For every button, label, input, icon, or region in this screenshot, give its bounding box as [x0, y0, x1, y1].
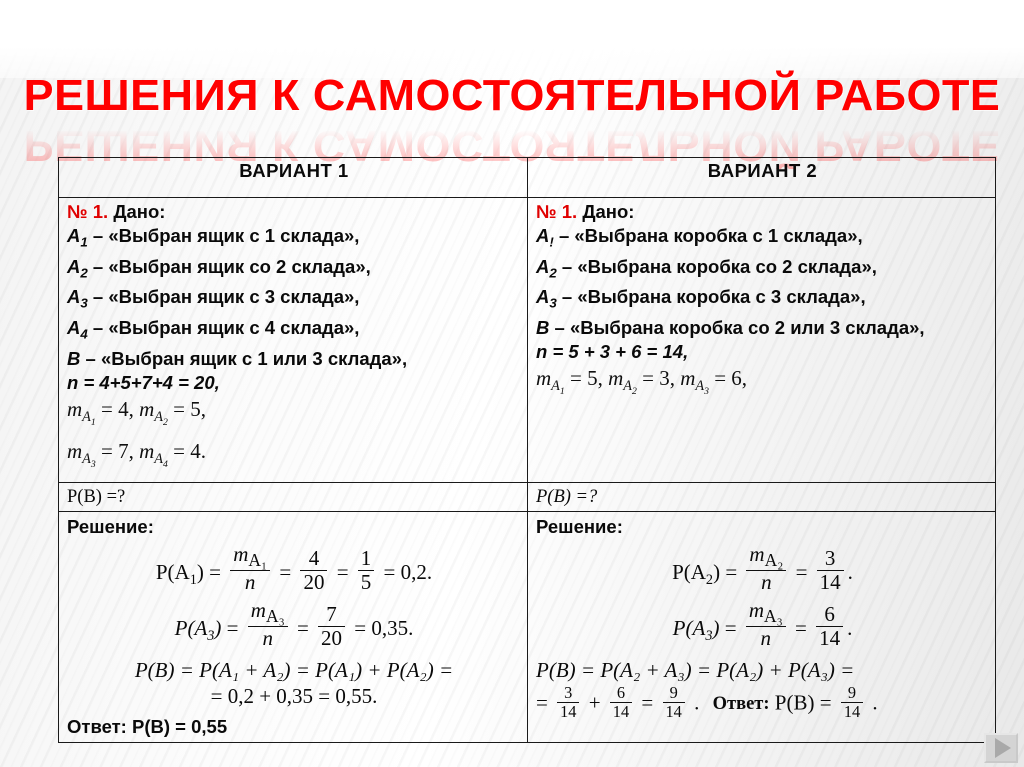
solution-label-v1: Решение:: [67, 515, 521, 539]
event-text: «Выбран ящик со 2 склада»,: [108, 256, 370, 277]
event-dash: –: [93, 256, 103, 277]
solution-label-v2: Решение:: [536, 515, 989, 539]
fraction-m-over-n: mA₃ n: [248, 599, 288, 651]
page-title: РЕШЕНИЯ К САМОСТОЯТЕЛЬНОЙ РАБОТЕ: [0, 72, 1024, 120]
event-dash: –: [555, 317, 565, 338]
event-dash: –: [93, 225, 103, 246]
task-number-v1: № 1.: [67, 201, 108, 222]
event-line: A2 – «Выбран ящик со 2 склада»,: [67, 255, 521, 286]
fraction-9-14: 9 14: [663, 684, 685, 721]
fraction-1-5: 1 5: [358, 547, 375, 594]
fraction-m-over-n: mA₃ n: [746, 599, 786, 651]
event-text: «Выбрана коробка с 1 склада»,: [574, 225, 862, 246]
question-cell-variant-1: P(B) =?: [59, 482, 528, 511]
title-block: РЕШЕНИЯ К САМОСТОЯТЕЛЬНОЙ РАБОТЕ РЕШЕНИЯ…: [0, 72, 1024, 169]
event-line: A! – «Выбрана коробка с 1 склада»,: [536, 224, 989, 255]
event-dash: –: [559, 225, 569, 246]
answer-value-v1: P(B) = 0,55: [132, 716, 227, 737]
event-symbol: A2: [536, 256, 557, 277]
fraction-6-14: 6 14: [816, 603, 843, 650]
equation-p-b-line1: P(B) = P(A₁ + A₂) = P(A₁) + P(A₂) =: [67, 658, 521, 682]
task-number-line: № 1. Дано:: [67, 200, 521, 224]
answer-prefix-v2: P(B) =: [775, 690, 832, 714]
table-header-row: ВАРИАНТ 1 ВАРИАНТ 2: [59, 158, 996, 198]
answer-label-v2: Ответ:: [713, 694, 770, 714]
event-symbol: A3: [67, 286, 88, 307]
event-line: A3 – «Выбран ящик с 3 склада»,: [67, 285, 521, 316]
slide-canvas: РЕШЕНИЯ К САМОСТОЯТЕЛЬНОЙ РАБОТЕ РЕШЕНИЯ…: [0, 0, 1024, 767]
given-label-v2: Дано:: [582, 201, 634, 222]
fraction-3-14: 3 14: [557, 684, 579, 721]
header-variant-1: ВАРИАНТ 1: [59, 158, 528, 198]
table-question-row: P(B) =? P(B) =?: [59, 482, 996, 511]
event-line: A2 – «Выбрана коробка со 2 склада»,: [536, 255, 989, 286]
event-symbol: B: [536, 317, 549, 338]
solutions-table: ВАРИАНТ 1 ВАРИАНТ 2 № 1. Дано: A1 – «Выб…: [58, 157, 996, 743]
counts-line-1-v1: mA1 = 4, mA2 = 5,: [67, 395, 521, 437]
fraction-answer-9-14: 9 14: [841, 684, 863, 721]
play-triangle-icon: [995, 738, 1011, 758]
task-number-line: № 1. Дано:: [536, 200, 989, 224]
solution-cell-variant-2: Решение: P(A2) = mA₂ n = 3 14 .: [528, 511, 996, 742]
equation-result: 0,35.: [371, 616, 413, 640]
event-symbol: A4: [67, 317, 88, 338]
event-text: «Выбран ящик с 4 склада»,: [108, 317, 359, 338]
event-dash: –: [86, 348, 96, 369]
fraction-3-14: 3 14: [817, 547, 844, 594]
question-cell-variant-2: P(B) =?: [528, 482, 996, 511]
given-cell-variant-1: № 1. Дано: A1 – «Выбран ящик с 1 склада»…: [59, 198, 528, 483]
equation-p-a3: P(A3) = mA₃ n = 6 14 .: [536, 599, 989, 651]
event-dash: –: [93, 286, 103, 307]
event-dash: –: [93, 317, 103, 338]
fraction-6-14: 6 14: [610, 684, 632, 721]
event-dash: –: [562, 256, 572, 277]
fraction-m-over-n: mA₂ n: [746, 543, 786, 595]
equation-p-a2: P(A2) = mA₂ n = 3 14 .: [536, 543, 989, 595]
event-text: «Выбрана коробка с 3 склада»,: [577, 286, 865, 307]
event-text: «Выбрана коробка со 2 или 3 склада»,: [570, 317, 925, 338]
event-text: «Выбран ящик с 1 или 3 склада»,: [101, 348, 407, 369]
equation-p-a1: P(A1) = mA₁ n = 4 20 = 1: [67, 543, 521, 595]
event-line: A4 – «Выбран ящик с 4 склада»,: [67, 316, 521, 347]
equation-result: .: [847, 616, 852, 640]
equation-result: .: [848, 560, 853, 584]
total-count-line-v2: n = 5 + 3 + 6 = 14,: [536, 340, 989, 364]
answer-label-v1: Ответ:: [67, 716, 127, 737]
equation-p-b-line2: = 0,2 + 0,35 = 0,55.: [67, 684, 521, 708]
total-count-line-v1: n = 4+5+7+4 = 20,: [67, 371, 521, 395]
equation-result: 0,2.: [401, 560, 433, 584]
fraction-4-20: 4 20: [300, 547, 327, 594]
fraction-7-20: 7 20: [318, 603, 345, 650]
given-label-v1: Дано:: [113, 201, 165, 222]
event-line: B – «Выбран ящик с 1 или 3 склада»,: [67, 347, 521, 371]
event-text: «Выбран ящик с 3 склада»,: [108, 286, 359, 307]
task-number-v2: № 1.: [536, 201, 577, 222]
given-cell-variant-2: № 1. Дано: A! – «Выбрана коробка с 1 скл…: [528, 198, 996, 483]
counts-line-1-v2: mA1 = 5, mA2 = 3, mA3 = 6,: [536, 364, 989, 406]
answer-line-v1: Ответ: P(B) = 0,55: [67, 714, 521, 739]
event-symbol: A!: [536, 225, 554, 246]
event-line: B – «Выбрана коробка со 2 или 3 склада»,: [536, 316, 989, 340]
equation-p-a3: P(A3) = mA₃ n = 7 20 = 0,35.: [67, 599, 521, 651]
event-symbol: A1: [67, 225, 88, 246]
event-text: «Выбран ящик с 1 склада»,: [108, 225, 359, 246]
next-slide-button[interactable]: [984, 733, 1018, 763]
solution-cell-variant-1: Решение: P(A1) = mA₁ n = 4 20 =: [59, 511, 528, 742]
table-given-row: № 1. Дано: A1 – «Выбран ящик с 1 склада»…: [59, 198, 996, 483]
counts-line-2-v1: mA3 = 7, mA4 = 4.: [67, 437, 521, 479]
event-symbol: B: [67, 348, 80, 369]
fraction-m-over-n: mA₁ n: [230, 543, 270, 595]
event-symbol: A3: [536, 286, 557, 307]
equation-p-b-line2: = 3 14 + 6 14 = 9 14: [536, 684, 989, 721]
equation-p-b-line1: P(B) = P(A₂ + A₃) = P(A₂) + P(A₃) =: [536, 658, 989, 682]
event-symbol: A2: [67, 256, 88, 277]
event-line: A1 – «Выбран ящик с 1 склада»,: [67, 224, 521, 255]
event-line: A3 – «Выбрана коробка с 3 склада»,: [536, 285, 989, 316]
event-text: «Выбрана коробка со 2 склада»,: [577, 256, 877, 277]
event-dash: –: [562, 286, 572, 307]
header-variant-2: ВАРИАНТ 2: [528, 158, 996, 198]
table-solution-row: Решение: P(A1) = mA₁ n = 4 20 =: [59, 511, 996, 742]
